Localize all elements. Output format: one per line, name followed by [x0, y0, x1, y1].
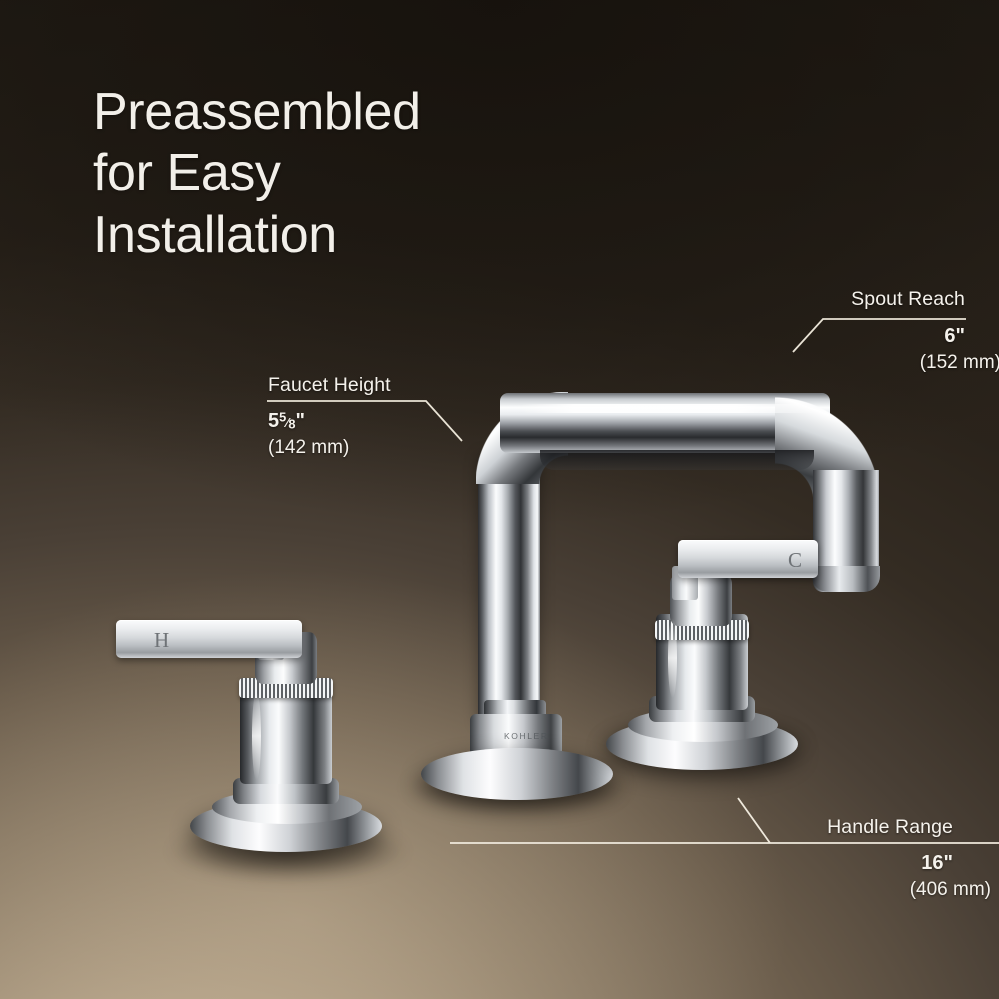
- page-headline: Preassembled for Easy Installation: [93, 82, 421, 266]
- callout-spout-reach: Spout Reach 6" (152 mm): [830, 288, 965, 374]
- spout-reach-metric: (152 mm): [830, 352, 999, 374]
- hot-barrel-highlight: [252, 692, 261, 780]
- faucet-height-unit: ": [296, 410, 305, 432]
- spout-outlet: [812, 566, 880, 592]
- cold-barrel-highlight: [668, 618, 677, 698]
- spout-reach-title: Spout Reach: [830, 288, 965, 311]
- hot-lever[interactable]: H: [116, 620, 302, 658]
- product-photo-scene: KOHLER H C: [0, 0, 999, 999]
- faucet-height-denominator: 8: [288, 417, 295, 432]
- handle-range-value: 16": [805, 852, 953, 875]
- spout-highlight: [520, 404, 820, 413]
- handle-range-title: Handle Range: [805, 816, 953, 839]
- callout-faucet-height: Faucet Height 55⁄8" (142 mm): [268, 374, 468, 459]
- kohler-brand-mark: KOHLER: [504, 731, 549, 741]
- faucet-height-fraction: 5⁄8: [279, 415, 295, 430]
- spout-under-shadow: [540, 450, 814, 470]
- faucet-height-metric: (142 mm): [268, 437, 468, 459]
- callout-handle-range: Handle Range 16" (406 mm): [805, 816, 953, 901]
- faucet-height-numerator: 5: [279, 410, 286, 425]
- hot-lever-letter: H: [154, 628, 169, 653]
- cold-lever[interactable]: C: [678, 540, 818, 578]
- spout-escutcheon: [421, 748, 613, 800]
- faucet-height-whole: 5: [268, 410, 279, 432]
- cold-lever-letter: C: [788, 548, 802, 573]
- spout-riser: [478, 455, 540, 725]
- faucet-height-value: 55⁄8": [268, 410, 468, 433]
- spout-reach-value: 6": [830, 325, 965, 348]
- handle-range-metric: (406 mm): [805, 879, 991, 901]
- faucet-height-title: Faucet Height: [268, 374, 468, 397]
